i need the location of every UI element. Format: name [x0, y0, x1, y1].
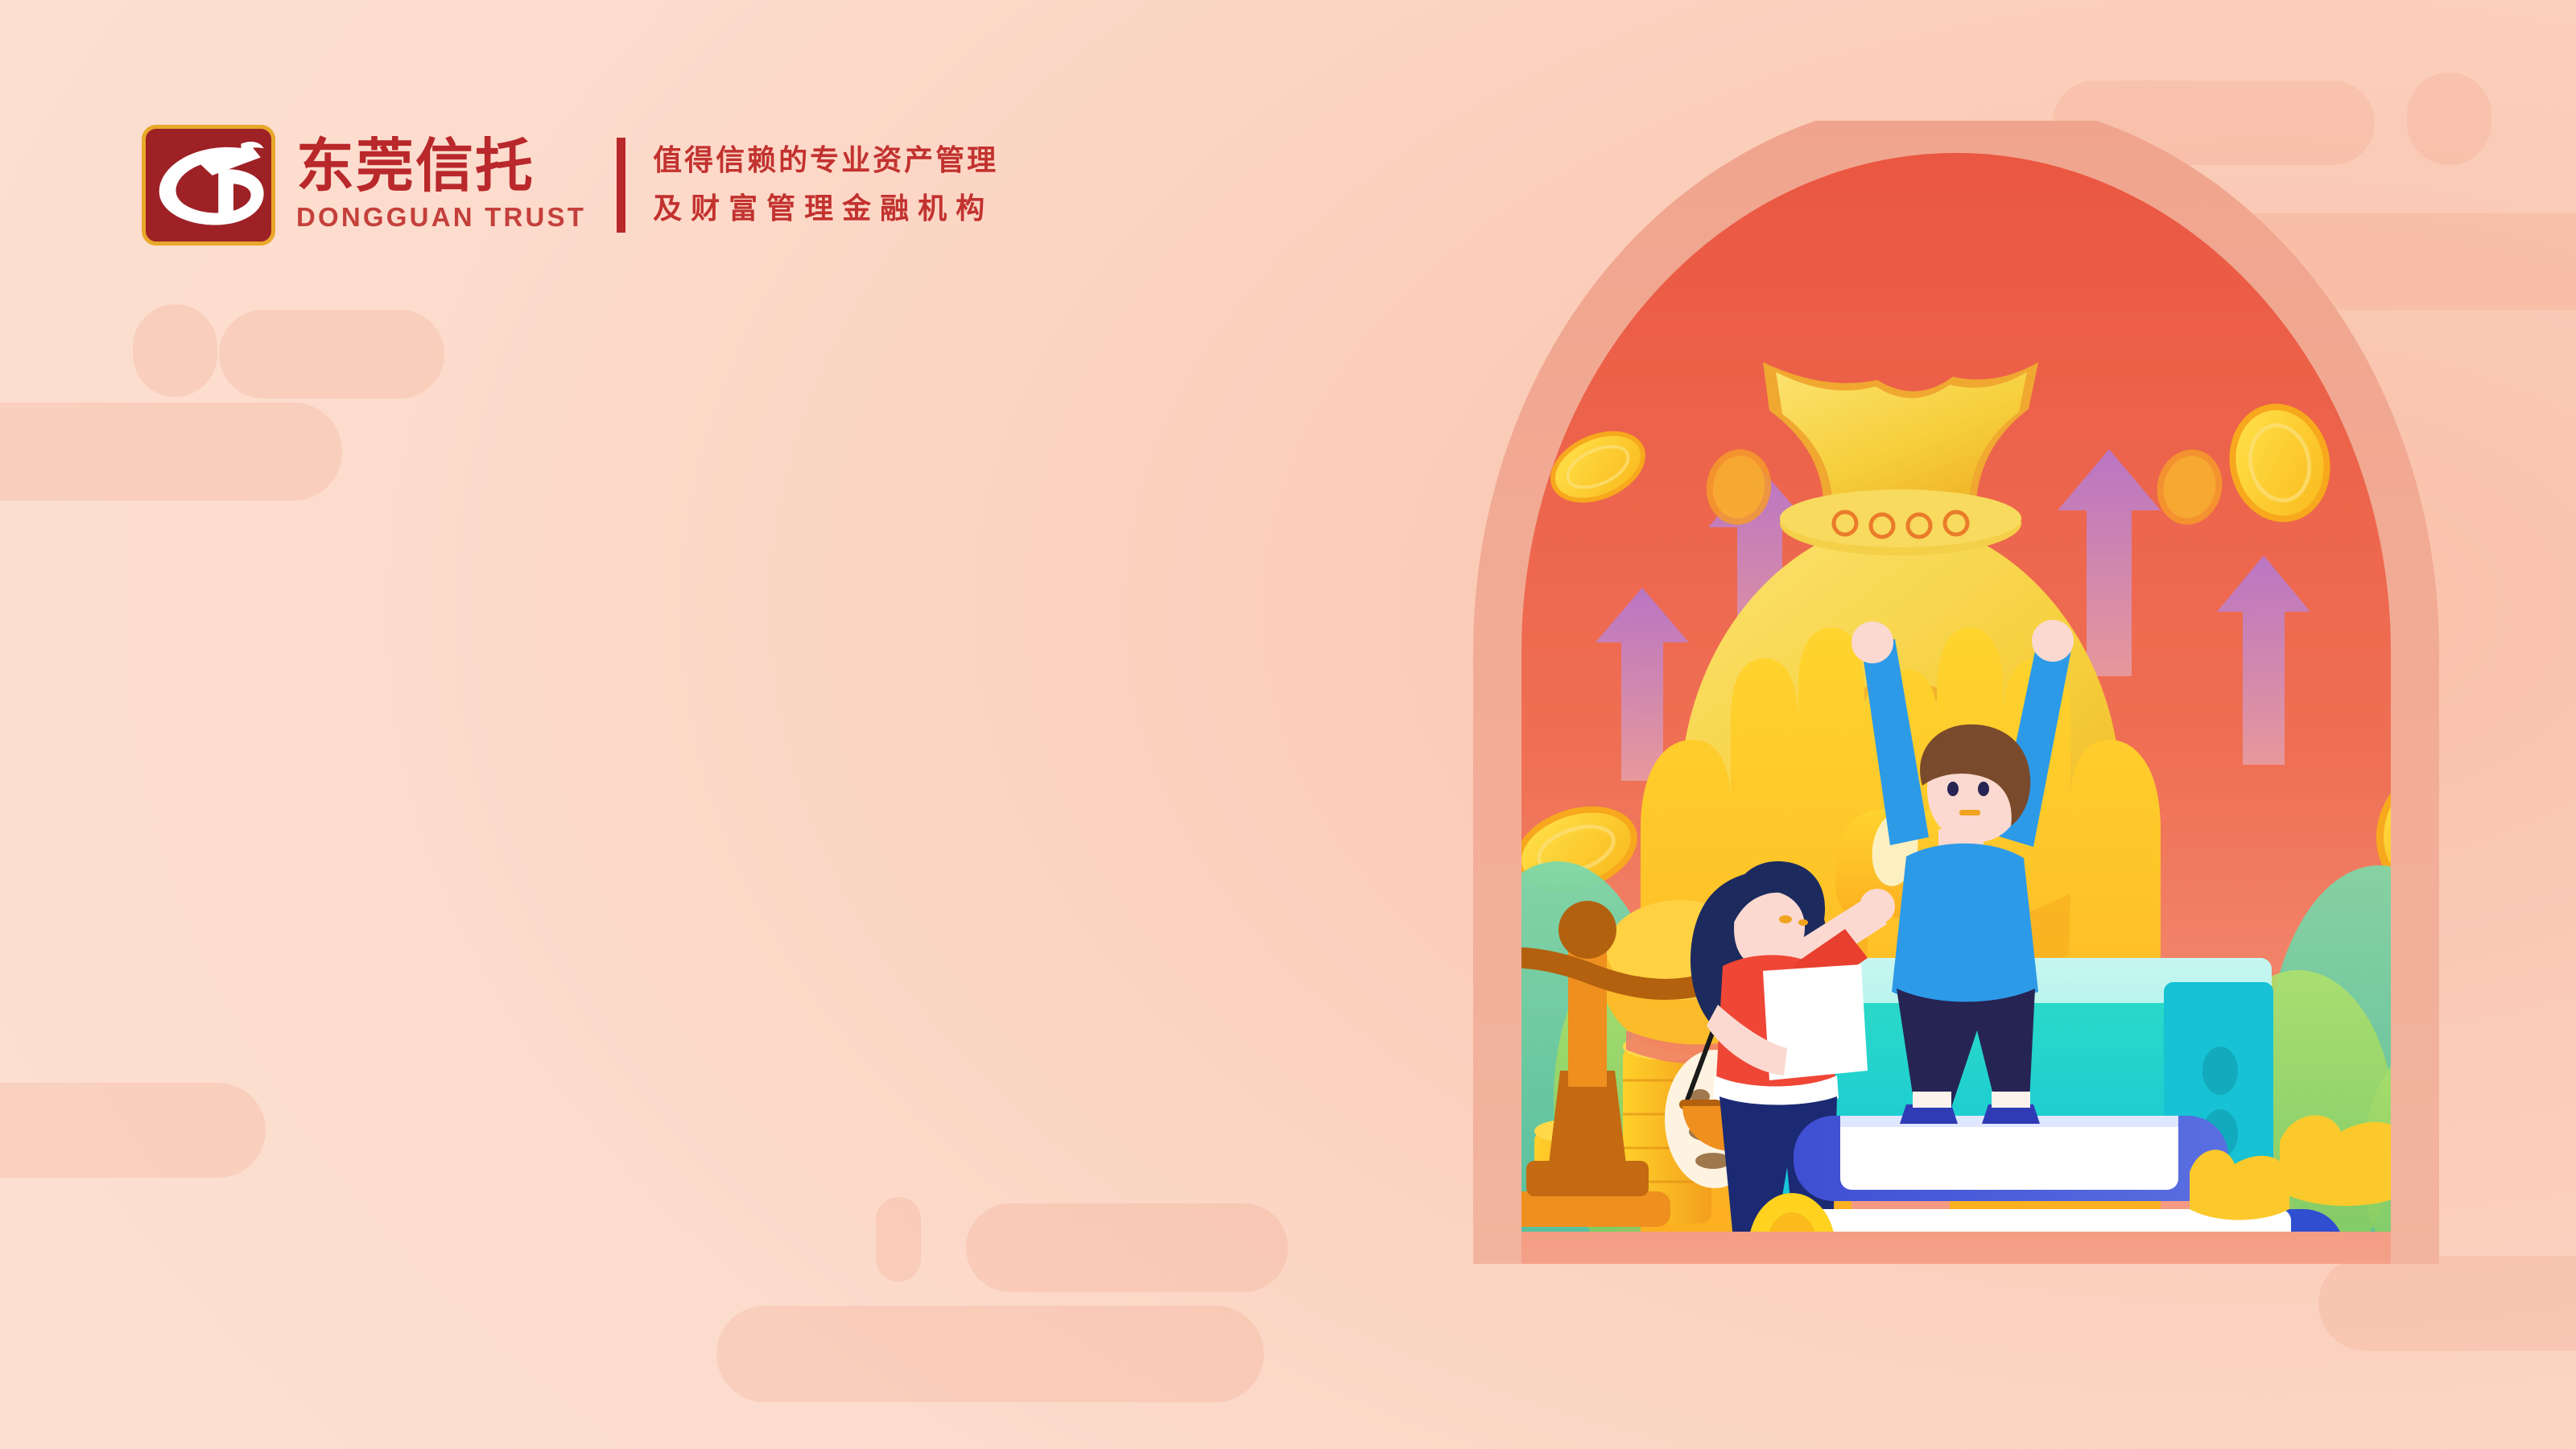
tagline-line-1: 值得信赖的专业资产管理: [653, 137, 998, 185]
scale-knob: [1558, 901, 1616, 959]
scale-base-2: [1526, 1161, 1649, 1196]
headline-group: 防范非法集资宣传教育活动 学法用法护小家 防非处非靠大家: [0, 483, 1368, 906]
money-bag-band-shade: [1780, 489, 2021, 547]
man-mouth: [1959, 810, 1980, 815]
brand-divider: [617, 138, 625, 233]
decor-pill: [0, 1083, 266, 1178]
man-hand-right: [2032, 620, 2074, 662]
decor-dot: [876, 1197, 921, 1282]
decor-dot: [133, 304, 217, 397]
brand-tagline: 值得信赖的专业资产管理 及财富管理金融机构: [653, 125, 998, 246]
promo-banner: 东莞信托 DONGGUAN TRUST 值得信赖的专业资产管理 及财富管理金融机…: [0, 0, 2576, 1449]
brand-wordmark: 东莞信托 DONGGUAN TRUST: [296, 125, 586, 246]
headline-line-1: 防范非法集资宣传教育活动: [0, 483, 1368, 589]
decor-pill: [716, 1306, 1264, 1402]
book-upper: [1794, 1116, 2228, 1201]
brand-name-en: DONGGUAN TRUST: [296, 200, 586, 233]
headline-line-2: 学法用法护小家: [0, 650, 1368, 749]
man-hand-left: [1851, 621, 1893, 663]
brand-name-cn: 东莞信托: [296, 137, 586, 196]
dongguan-trust-monogram-icon: [142, 125, 275, 246]
man-sweater: [1892, 844, 2038, 1005]
brand-logo-block: 东莞信托 DONGGUAN TRUST 值得信赖的专业资产管理 及财富管理金融机…: [142, 113, 998, 258]
decor-pill: [219, 310, 444, 398]
headline-line-3: 防非处非靠大家: [0, 808, 1368, 906]
scale-base: [1505, 1191, 1670, 1227]
decor-pill: [966, 1203, 1288, 1292]
woman-hand: [1860, 889, 1895, 924]
illustration-anti-fraud-scene: ¥: [1385, 121, 2528, 1312]
tagline-line-2: 及财富管理金融机构: [653, 185, 998, 233]
